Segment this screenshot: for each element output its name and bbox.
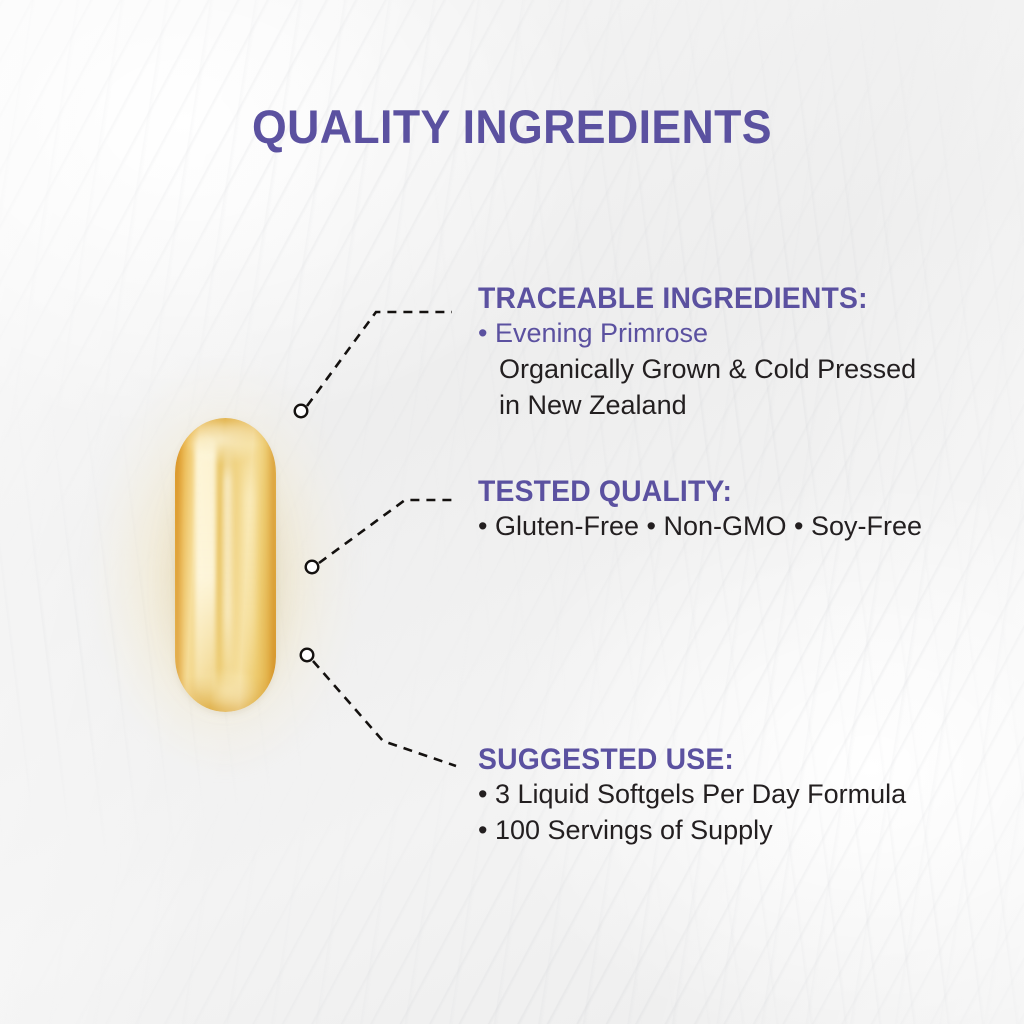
capsule-highlight-thin: [223, 448, 232, 686]
capsule-body: [175, 418, 276, 712]
callout-heading: TRACEABLE INGREDIENTS:: [478, 283, 899, 315]
callout-line: • Gluten-Free • Non-GMO • Soy-Free: [478, 508, 922, 544]
softgel-capsule-image: [175, 418, 276, 712]
capsule-edge-left: [175, 424, 188, 706]
capsule-bottom-gloss: [193, 668, 259, 706]
callout-heading: SUGGESTED USE:: [478, 744, 889, 776]
infographic-canvas: QUALITY INGREDIENTS TRACEABLE INGREDIENT…: [0, 0, 1024, 1024]
callout-line: in New Zealand: [478, 387, 916, 423]
callout-heading: TESTED QUALITY:: [478, 476, 904, 508]
callout-traceable-ingredients: TRACEABLE INGREDIENTS: • Evening Primros…: [478, 283, 916, 423]
callout-line: • 100 Servings of Supply: [478, 812, 906, 848]
callout-tested-quality: TESTED QUALITY: • Gluten-Free • Non-GMO …: [478, 476, 922, 544]
capsule-top-gloss: [189, 423, 261, 465]
callout-line: Organically Grown & Cold Pressed: [478, 351, 916, 387]
callout-suggested-use: SUGGESTED USE: • 3 Liquid Softgels Per D…: [478, 744, 906, 848]
capsule-highlight-main: [195, 434, 216, 696]
callout-line: • 3 Liquid Softgels Per Day Formula: [478, 776, 906, 812]
callout-line: • Evening Primrose: [478, 315, 916, 351]
capsule-edge-right: [263, 424, 276, 706]
capsule-highlight-right: [243, 458, 256, 676]
page-title: QUALITY INGREDIENTS: [26, 103, 999, 150]
